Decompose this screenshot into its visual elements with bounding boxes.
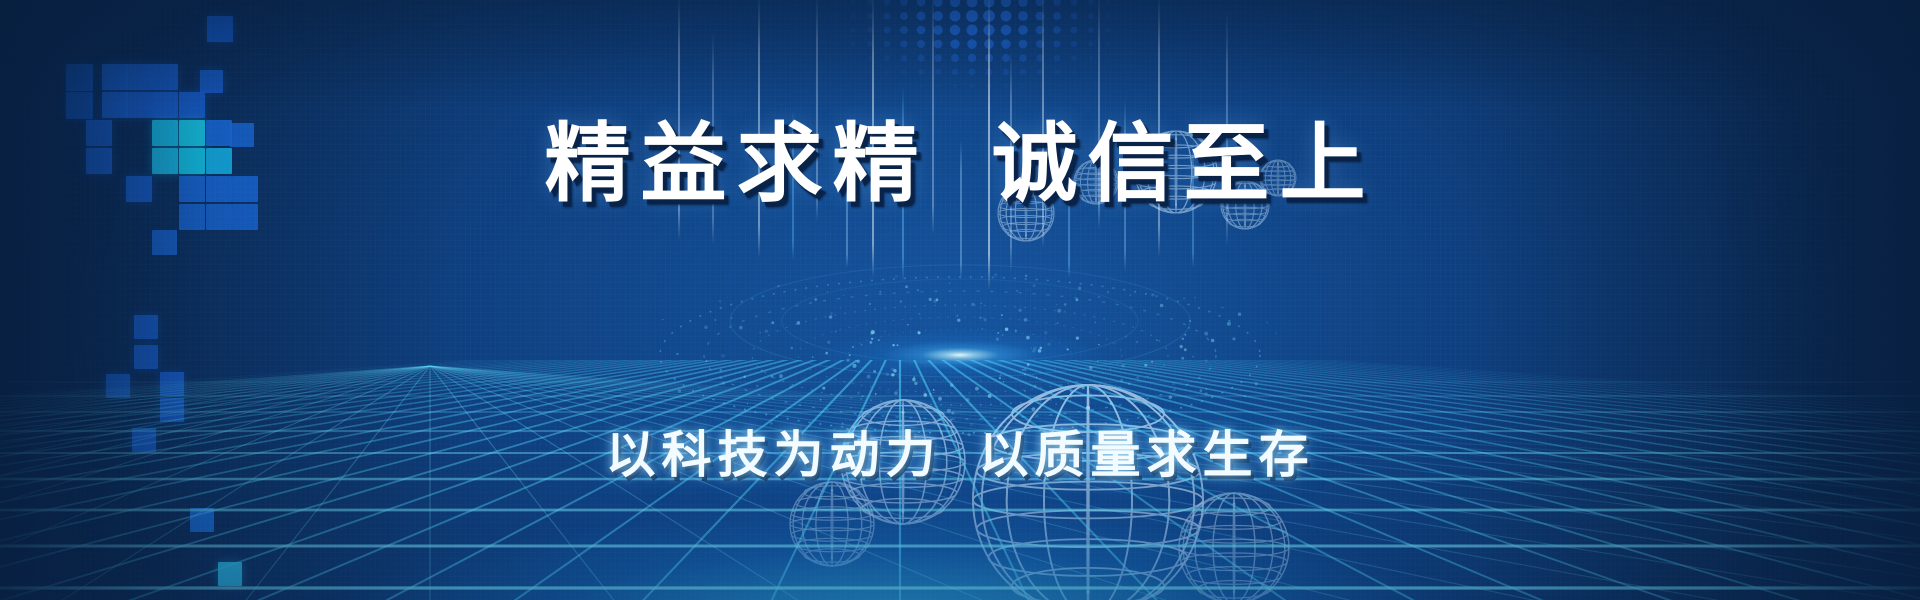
banner-tagline: 以科技为动力 以质量求生存 [0,415,1920,487]
hero-banner: 精益求精 诚信至上 以科技为动力 以质量求生存 [0,0,1920,600]
banner-headline: 精益求精 诚信至上 [0,118,1920,211]
